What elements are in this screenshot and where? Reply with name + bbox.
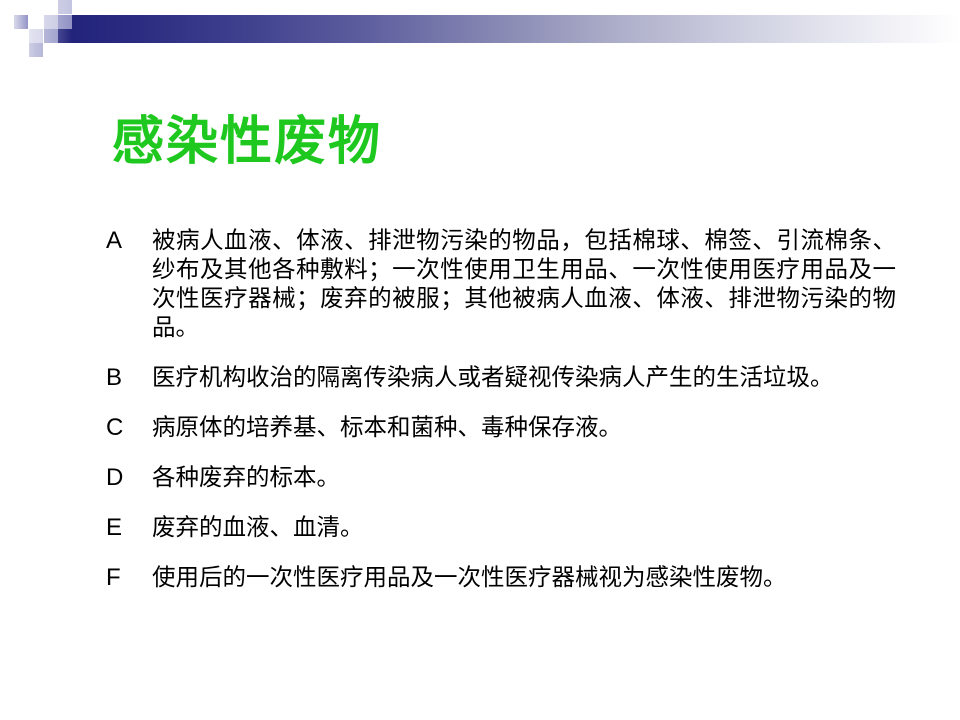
list-item-text: 医疗机构收治的隔离传染病人或者疑视传染病人产生的生活垃圾。 [152, 363, 896, 392]
waste-category-list: A 被病人血液、体液、排泄物污染的物品，包括棉球、棉签、引流棉条、纱布及其他各种… [106, 226, 896, 608]
mosaic-square-mid-lower [44, 29, 58, 43]
list-item-letter: A [106, 226, 152, 255]
list-item: A 被病人血液、体液、排泄物污染的物品，包括棉球、棉签、引流棉条、纱布及其他各种… [106, 226, 896, 342]
list-item: E 废弃的血液、血清。 [106, 513, 896, 542]
mosaic-square-light-lower [29, 29, 43, 43]
mosaic-square-light-left [44, 15, 58, 29]
list-item-letter: C [106, 413, 152, 442]
mosaic-square-mid-upper [58, 15, 72, 29]
mosaic-square-accent-dark [14, 15, 28, 29]
list-item: B 医疗机构收治的隔离传染病人或者疑视传染病人产生的生活垃圾。 [106, 363, 896, 392]
list-item-text: 使用后的一次性医疗用品及一次性医疗器械视为感染性废物。 [152, 563, 896, 592]
mosaic-square-light-top [58, 0, 72, 14]
list-item-letter: B [106, 363, 152, 392]
list-item: D 各种废弃的标本。 [106, 463, 896, 492]
list-item-letter: F [106, 563, 152, 592]
list-item-text: 废弃的血液、血清。 [152, 513, 896, 542]
list-item-text: 被病人血液、体液、排泄物污染的物品，包括棉球、棉签、引流棉条、纱布及其他各种敷料… [152, 226, 896, 342]
list-item: C 病原体的培养基、标本和菌种、毒种保存液。 [106, 413, 896, 442]
page-title: 感染性废物 [112, 113, 382, 173]
mosaic-square-mid-bottom [29, 43, 43, 57]
list-item-letter: E [106, 513, 152, 542]
list-item-letter: D [106, 463, 152, 492]
list-item: F 使用后的一次性医疗用品及一次性医疗器械视为感染性废物。 [106, 563, 896, 592]
decorative-header-banner [0, 0, 960, 62]
list-item-text: 病原体的培养基、标本和菌种、毒种保存液。 [152, 413, 896, 442]
list-item-text: 各种废弃的标本。 [152, 463, 896, 492]
slide: 感染性废物 A 被病人血液、体液、排泄物污染的物品，包括棉球、棉签、引流棉条、纱… [0, 0, 960, 720]
header-gradient-bar [58, 15, 960, 43]
